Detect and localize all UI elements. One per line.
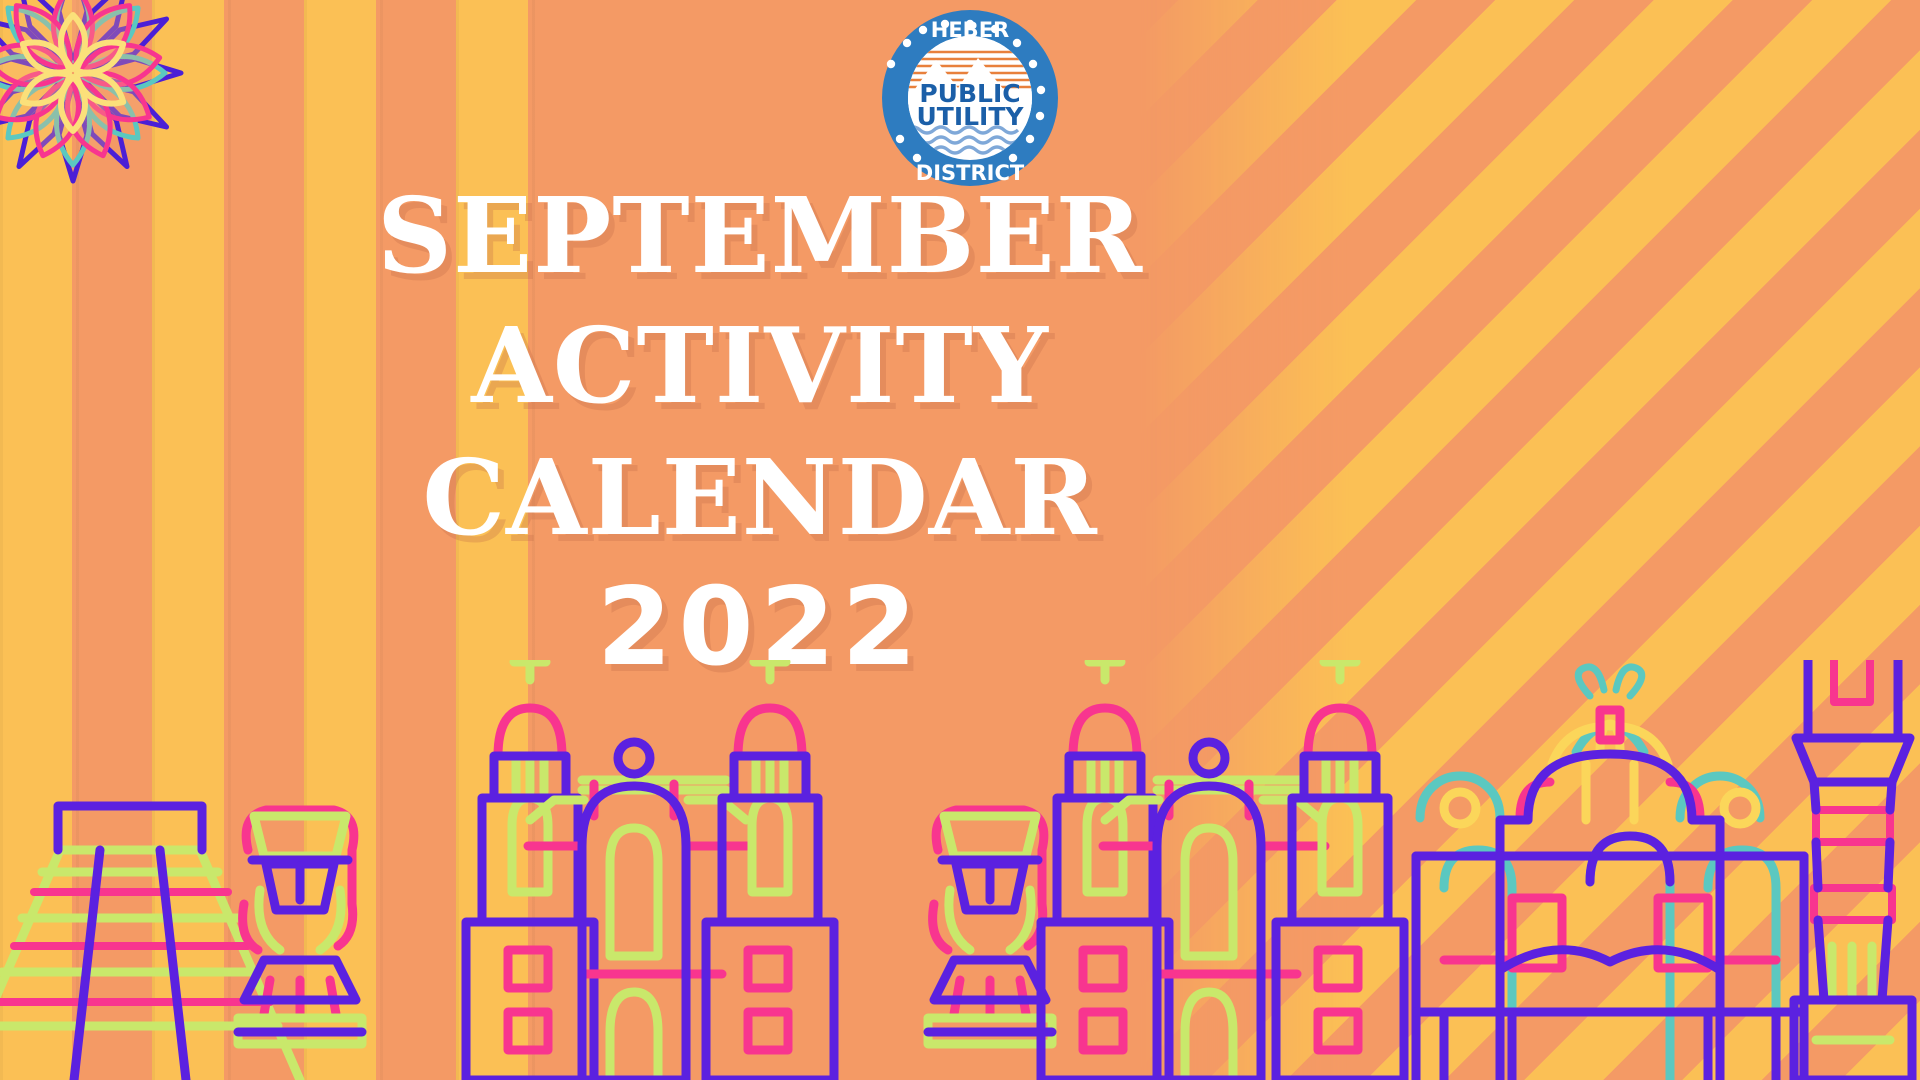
- olmec-head-left-icon: [238, 810, 362, 1044]
- logo-center-line-2: UTILITY: [916, 102, 1024, 131]
- angel-of-independence-icon: [1794, 660, 1912, 1080]
- olmec-head-right-icon: [928, 810, 1052, 1044]
- church-tower-right-icon: [706, 660, 834, 1080]
- mandala-flower-icon: [0, 0, 188, 188]
- title-line-activity: ACTIVITY: [330, 315, 1190, 417]
- heber-public-utility-district-logo: HEBER DISTRICT PUBLIC UTILITY: [880, 8, 1060, 188]
- church-tower-2-right-icon: [1276, 660, 1404, 1080]
- poster-title: SEPTEMBER ACTIVITY CALENDAR 2022: [330, 185, 1190, 681]
- church-dome-center-left-icon: [528, 742, 750, 1080]
- title-line-calendar: CALENDAR: [330, 447, 1190, 549]
- church-tower-2-left-icon: [1041, 660, 1169, 1080]
- mexico-landmarks-skyline: [0, 660, 1920, 1080]
- poster-canvas: HEBER DISTRICT PUBLIC UTILITY SEPTEMBER …: [0, 0, 1920, 1080]
- palacio-de-bellas-artes-icon: [1416, 667, 1804, 1080]
- church-tower-left-icon: [466, 660, 594, 1080]
- logo-top-text: HEBER: [931, 18, 1009, 42]
- title-line-month: SEPTEMBER: [330, 185, 1190, 287]
